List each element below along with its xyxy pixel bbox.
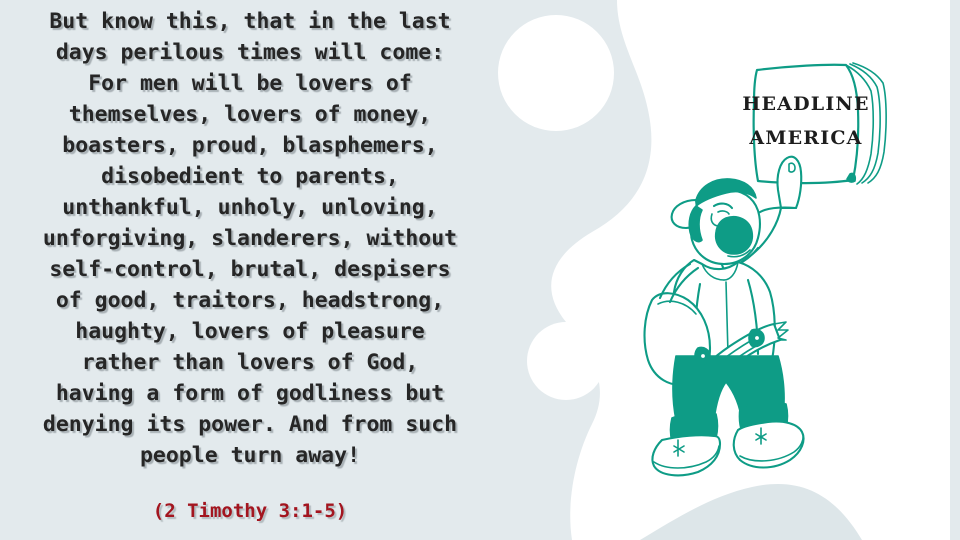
decor-circle-small (527, 322, 605, 400)
scripture-citation: (2 Timothy 3:1-5) (0, 500, 500, 522)
verse-line: self-control, brutal, despisers (0, 254, 500, 285)
newspaper-front-sheet (754, 65, 859, 183)
decor-circle-large (498, 15, 614, 131)
head-group (672, 179, 760, 264)
newspaper-headline-line2: AMERICA (748, 127, 862, 149)
verse-line: people turn away! (0, 440, 500, 471)
newspaper-group: HEADLINE AMERICA (742, 63, 886, 184)
open-mouth (716, 217, 753, 254)
verse-line: disobedient to parents, (0, 161, 500, 192)
slide-canvas: But know this, that in the last days per… (0, 0, 960, 540)
button-hole-left (700, 353, 706, 359)
verse-line: But know this, that in the last (0, 6, 500, 37)
verse-line: For men will be lovers of (0, 68, 500, 99)
verse-line: unthankful, unholy, unloving, (0, 192, 500, 223)
button-hole-right (754, 335, 760, 341)
newsboy-illustration: HEADLINE AMERICA (640, 48, 960, 448)
newspaper-headline-line1: HEADLINE (742, 93, 869, 115)
verse-line: haughty, lovers of pleasure (0, 316, 500, 347)
verse-line: denying its power. And from such (0, 409, 500, 440)
verse-line: rather than lovers of God, (0, 347, 500, 378)
verse-line: of good, traitors, headstrong, (0, 285, 500, 316)
verse-line: themselves, lovers of money, (0, 99, 500, 130)
scripture-text-block: But know this, that in the last days per… (0, 6, 500, 471)
verse-line: boasters, proud, blasphemers, (0, 130, 500, 161)
verse-line: unforgiving, slanderers, without (0, 223, 500, 254)
verse-line: days perilous times will come: (0, 37, 500, 68)
verse-line: having a form of godliness but (0, 378, 500, 409)
